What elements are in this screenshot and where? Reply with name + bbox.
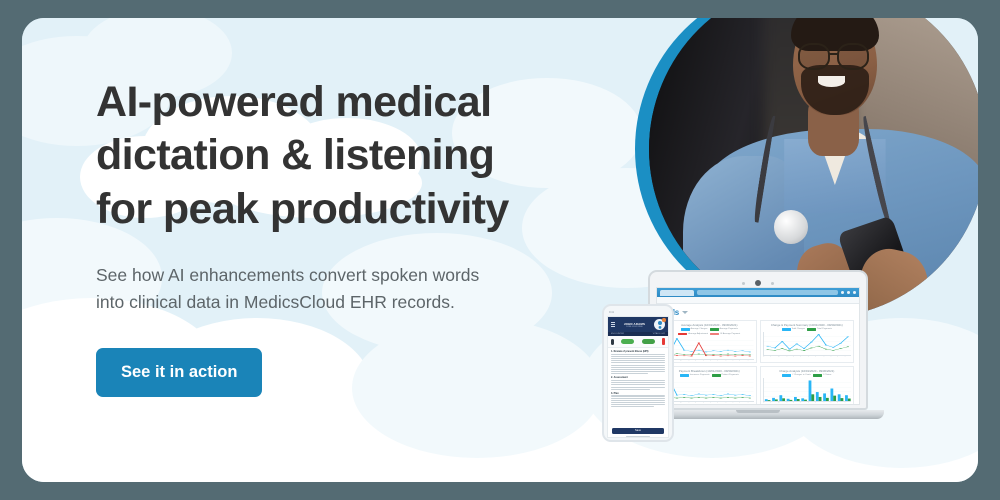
note-text-line	[611, 373, 648, 374]
legend-label: # Claims	[823, 374, 832, 376]
chart-x-axis-labels: Oct-20Nov-20Dec-20Jan-21Feb-21Mar-21Apr-…	[665, 360, 754, 362]
legend-item: Patient Payments	[712, 374, 739, 377]
legend-label: Of Average Payment	[720, 333, 740, 335]
note-text-line	[611, 367, 665, 368]
microphone-icon[interactable]	[611, 339, 614, 345]
note-text-line	[611, 356, 665, 357]
x-tick-label: Jan-21	[688, 402, 693, 403]
x-tick-label: Feb-21	[793, 402, 798, 403]
notification-badge	[662, 318, 666, 322]
x-tick-label: Dec-20	[778, 356, 783, 357]
home-indicator	[626, 436, 650, 437]
subheading-line: into clinical data in MedicsCloud EHR re…	[96, 289, 616, 316]
chart-x-axis-labels: Oct-20Nov-20Dec-20Jan-21Feb-21Mar-21Apr-…	[763, 402, 852, 404]
x-tick-label: Jul-21	[830, 356, 835, 357]
phone-screen: JOHN ADAMS DOB 01/01/1980 ENCOUNTER VITA…	[607, 316, 669, 438]
headline-line: AI-powered medical	[96, 76, 616, 129]
banner-content: AI-powered medical dictation & listening…	[96, 76, 616, 397]
note-text-line	[611, 369, 665, 370]
note-text-line	[611, 362, 665, 363]
legend-swatch	[678, 333, 687, 336]
note-text-line	[611, 406, 654, 407]
x-tick-label: Apr-21	[808, 356, 813, 357]
chevron-down-icon[interactable]	[682, 311, 688, 314]
x-tick-label: Aug-21	[837, 402, 842, 403]
phone-mockup: 9:41 JOHN ADAMS DOB 01/01/1980 ENCOUNTER…	[602, 304, 674, 442]
x-tick-label: Nov-20	[770, 402, 775, 403]
legend-label: Average Payments	[720, 328, 738, 330]
x-tick-label: Jul-21	[732, 402, 737, 403]
legend-swatch	[680, 374, 689, 377]
webcam-icon	[755, 280, 761, 286]
note-text-line	[611, 354, 665, 355]
x-tick-label: Jan-21	[688, 360, 693, 361]
headline-line: dictation & listening	[96, 129, 616, 182]
note-text-line	[611, 365, 665, 366]
chart-plot-area	[763, 332, 852, 356]
chart-x-axis-labels: Oct-20Nov-20Dec-20Jan-21Feb-21Mar-21Apr-…	[665, 402, 754, 404]
kpi-chart-card: Average Analysis (10/01/2020 - 09/30/202…	[662, 320, 757, 363]
laptop-screen: KPIs Average Analysis (10/01/2020 - 09/3…	[656, 287, 860, 405]
legend-label: Average Charges	[691, 328, 708, 330]
x-tick-label: Oct-20	[763, 356, 768, 357]
note-text-line	[611, 389, 650, 390]
phone-footer: Save	[608, 426, 668, 437]
chart-legend: Total ChargesTotal Payments	[763, 328, 852, 331]
x-tick-label: Dec-20	[680, 402, 685, 403]
x-tick-label: Jun-21	[823, 356, 828, 357]
kpi-chart-card: Charge Analysis (10/01/2020 - 09/30/2021…	[760, 366, 855, 405]
note-section-heading: 1. Review of present illness (HPI)	[611, 350, 665, 353]
note-section: 2. Assessment	[611, 376, 665, 389]
x-tick-label: Jun-21	[823, 402, 828, 403]
legend-item: # Claims	[813, 374, 832, 377]
x-tick-label: Feb-21	[793, 356, 798, 357]
start-dictation-button[interactable]	[621, 339, 634, 344]
note-body: 1. Review of present illness (HPI)2. Ass…	[608, 348, 668, 426]
legend-swatch	[710, 328, 719, 331]
x-tick-label: Jan-21	[786, 356, 791, 357]
x-tick-label: Dec-20	[778, 402, 783, 403]
headline-line: for peak productivity	[96, 183, 616, 236]
x-tick-label: Sep-21	[747, 402, 752, 403]
subbar-right-label: VITALS / HPI	[653, 333, 665, 335]
chart-plot-area	[665, 378, 754, 402]
legend-swatch	[813, 374, 822, 377]
note-text-line	[611, 382, 665, 383]
note-text-line	[611, 371, 665, 372]
note-text-line	[611, 398, 665, 399]
x-tick-label: Apr-21	[710, 402, 715, 403]
note-section: 3. Plan	[611, 392, 665, 408]
chart-legend: # Charges in Cents# Claims	[763, 374, 852, 377]
legend-item: # Charges in Cents	[782, 374, 811, 377]
legend-item: Total Payments	[807, 328, 832, 331]
laptop-mockup: KPIs Average Analysis (10/01/2020 - 09/3…	[648, 270, 884, 419]
x-tick-label: Mar-21	[703, 360, 708, 361]
subheading: See how AI enhancements convert spoken w…	[96, 262, 616, 316]
legend-swatch	[712, 374, 721, 377]
x-tick-label: May-21	[815, 402, 820, 403]
note-text-line	[611, 380, 665, 381]
resume-dictation-button[interactable]	[642, 339, 655, 344]
x-tick-label: May-21	[717, 360, 722, 361]
chart-plot-area	[763, 378, 852, 402]
x-tick-label: Apr-21	[808, 402, 813, 403]
kpi-chart-card: Charge & Payment Summary (10/01/2020 - 0…	[760, 320, 855, 363]
patient-meta: DOB 01/01/1980	[617, 326, 652, 328]
legend-label: Total Payments	[817, 328, 832, 330]
note-section-heading: 3. Plan	[611, 392, 665, 395]
see-it-in-action-button[interactable]: See it in action	[96, 348, 262, 397]
x-tick-label: Sep-21	[844, 356, 849, 357]
maximize-icon[interactable]	[847, 291, 850, 294]
chart-title: Average Analysis (10/01/2020 - 09/30/202…	[665, 323, 754, 327]
dictation-toolbar	[608, 336, 668, 348]
note-text-line	[611, 384, 665, 385]
note-text-line	[611, 387, 665, 388]
legend-swatch	[681, 328, 690, 331]
chart-title: Payment Breakdown (10/01/2020 - 09/30/20…	[665, 369, 754, 373]
x-tick-label: Jul-21	[830, 402, 835, 403]
x-tick-label: Mar-21	[800, 356, 805, 357]
record-icon[interactable]	[662, 338, 665, 345]
browser-tab[interactable]	[660, 290, 694, 296]
legend-item: Of Average Payment	[710, 333, 740, 336]
x-tick-label: Apr-21	[710, 360, 715, 361]
note-text-line	[611, 395, 665, 396]
subbar-left-label: ENCOUNTER	[611, 333, 624, 335]
avatar[interactable]	[654, 319, 665, 330]
note-text-line	[611, 360, 665, 361]
note-text-line	[611, 400, 665, 401]
laptop-camera-row	[656, 279, 860, 287]
x-tick-label: Aug-21	[837, 356, 842, 357]
legend-swatch	[710, 333, 719, 336]
patient-header: JOHN ADAMS DOB 01/01/1980	[608, 317, 668, 332]
legend-label: Patient Payments	[722, 374, 739, 376]
x-tick-label: Mar-21	[703, 402, 708, 403]
stethoscope-bell-icon	[774, 210, 808, 244]
minimize-icon[interactable]	[841, 291, 844, 294]
x-tick-label: Oct-20	[763, 402, 768, 403]
x-tick-label: Nov-20	[770, 356, 775, 357]
subheading-line: See how AI enhancements convert spoken w…	[96, 262, 616, 289]
chart-legend: Average ChargesAverage PaymentsAverage A…	[665, 328, 754, 335]
x-tick-label: Dec-20	[680, 360, 685, 361]
kpi-chart-card: Payment Breakdown (10/01/2020 - 09/30/20…	[662, 366, 757, 405]
kpi-chart-grid: Average Analysis (10/01/2020 - 09/30/202…	[662, 320, 854, 405]
legend-label: Insurance Payments	[690, 374, 710, 376]
x-tick-label: May-21	[717, 402, 722, 403]
x-tick-label: Jun-21	[725, 360, 730, 361]
x-tick-label: Jul-21	[732, 360, 737, 361]
chart-legend: Insurance PaymentsPatient Payments	[665, 374, 754, 377]
note-text-line	[611, 402, 665, 403]
x-tick-label: Aug-21	[739, 360, 744, 361]
x-tick-label: Aug-21	[739, 402, 744, 403]
note-section-heading: 2. Assessment	[611, 376, 665, 379]
browser-title-bar	[657, 288, 859, 297]
promo-banner: AI-powered medical dictation & listening…	[22, 18, 978, 482]
legend-label: Average Adjustment	[688, 333, 708, 335]
note-text-line	[611, 358, 665, 359]
address-bar[interactable]	[697, 290, 838, 295]
dashboard-header: KPIs	[662, 308, 854, 317]
chart-title: Charge Analysis (10/01/2020 - 09/30/2021…	[763, 369, 852, 373]
legend-swatch	[782, 328, 791, 331]
legend-swatch	[807, 328, 816, 331]
note-text-line	[611, 404, 665, 405]
legend-item: Total Charges	[782, 328, 806, 331]
chart-x-axis-labels: Oct-20Nov-20Dec-20Jan-21Feb-21Mar-21Apr-…	[763, 356, 852, 358]
status-time: 9:41	[609, 311, 614, 314]
x-tick-label: Mar-21	[800, 402, 805, 403]
x-tick-label: Feb-21	[695, 360, 700, 361]
legend-item: Average Adjustment	[678, 333, 708, 336]
x-tick-label: Jan-21	[786, 402, 791, 403]
page-title: AI-powered medical dictation & listening…	[96, 76, 616, 236]
glasses-icon	[798, 43, 830, 70]
x-tick-label: Feb-21	[695, 402, 700, 403]
browser-toolbar	[657, 297, 859, 304]
legend-item: Average Charges	[681, 328, 708, 331]
legend-item: Insurance Payments	[680, 374, 710, 377]
chart-title: Charge & Payment Summary (10/01/2020 - 0…	[763, 323, 852, 327]
legend-item: Average Payments	[710, 328, 738, 331]
legend-label: Total Charges	[792, 328, 806, 330]
note-section: 1. Review of present illness (HPI)	[611, 350, 665, 374]
chart-plot-area	[665, 336, 754, 360]
hamburger-icon[interactable]	[611, 322, 615, 326]
x-tick-label: May-21	[815, 356, 820, 357]
x-tick-label: Sep-21	[747, 360, 752, 361]
kpi-dashboard: KPIs Average Analysis (10/01/2020 - 09/3…	[657, 304, 859, 405]
legend-label: # Charges in Cents	[792, 374, 811, 376]
save-button[interactable]: Save	[612, 428, 664, 434]
x-tick-label: Sep-21	[844, 402, 849, 403]
patient-identity: JOHN ADAMS DOB 01/01/1980	[617, 322, 652, 328]
glasses-icon	[837, 43, 869, 70]
close-icon[interactable]	[853, 291, 856, 294]
x-tick-label: Jun-21	[725, 402, 730, 403]
legend-swatch	[782, 374, 791, 377]
